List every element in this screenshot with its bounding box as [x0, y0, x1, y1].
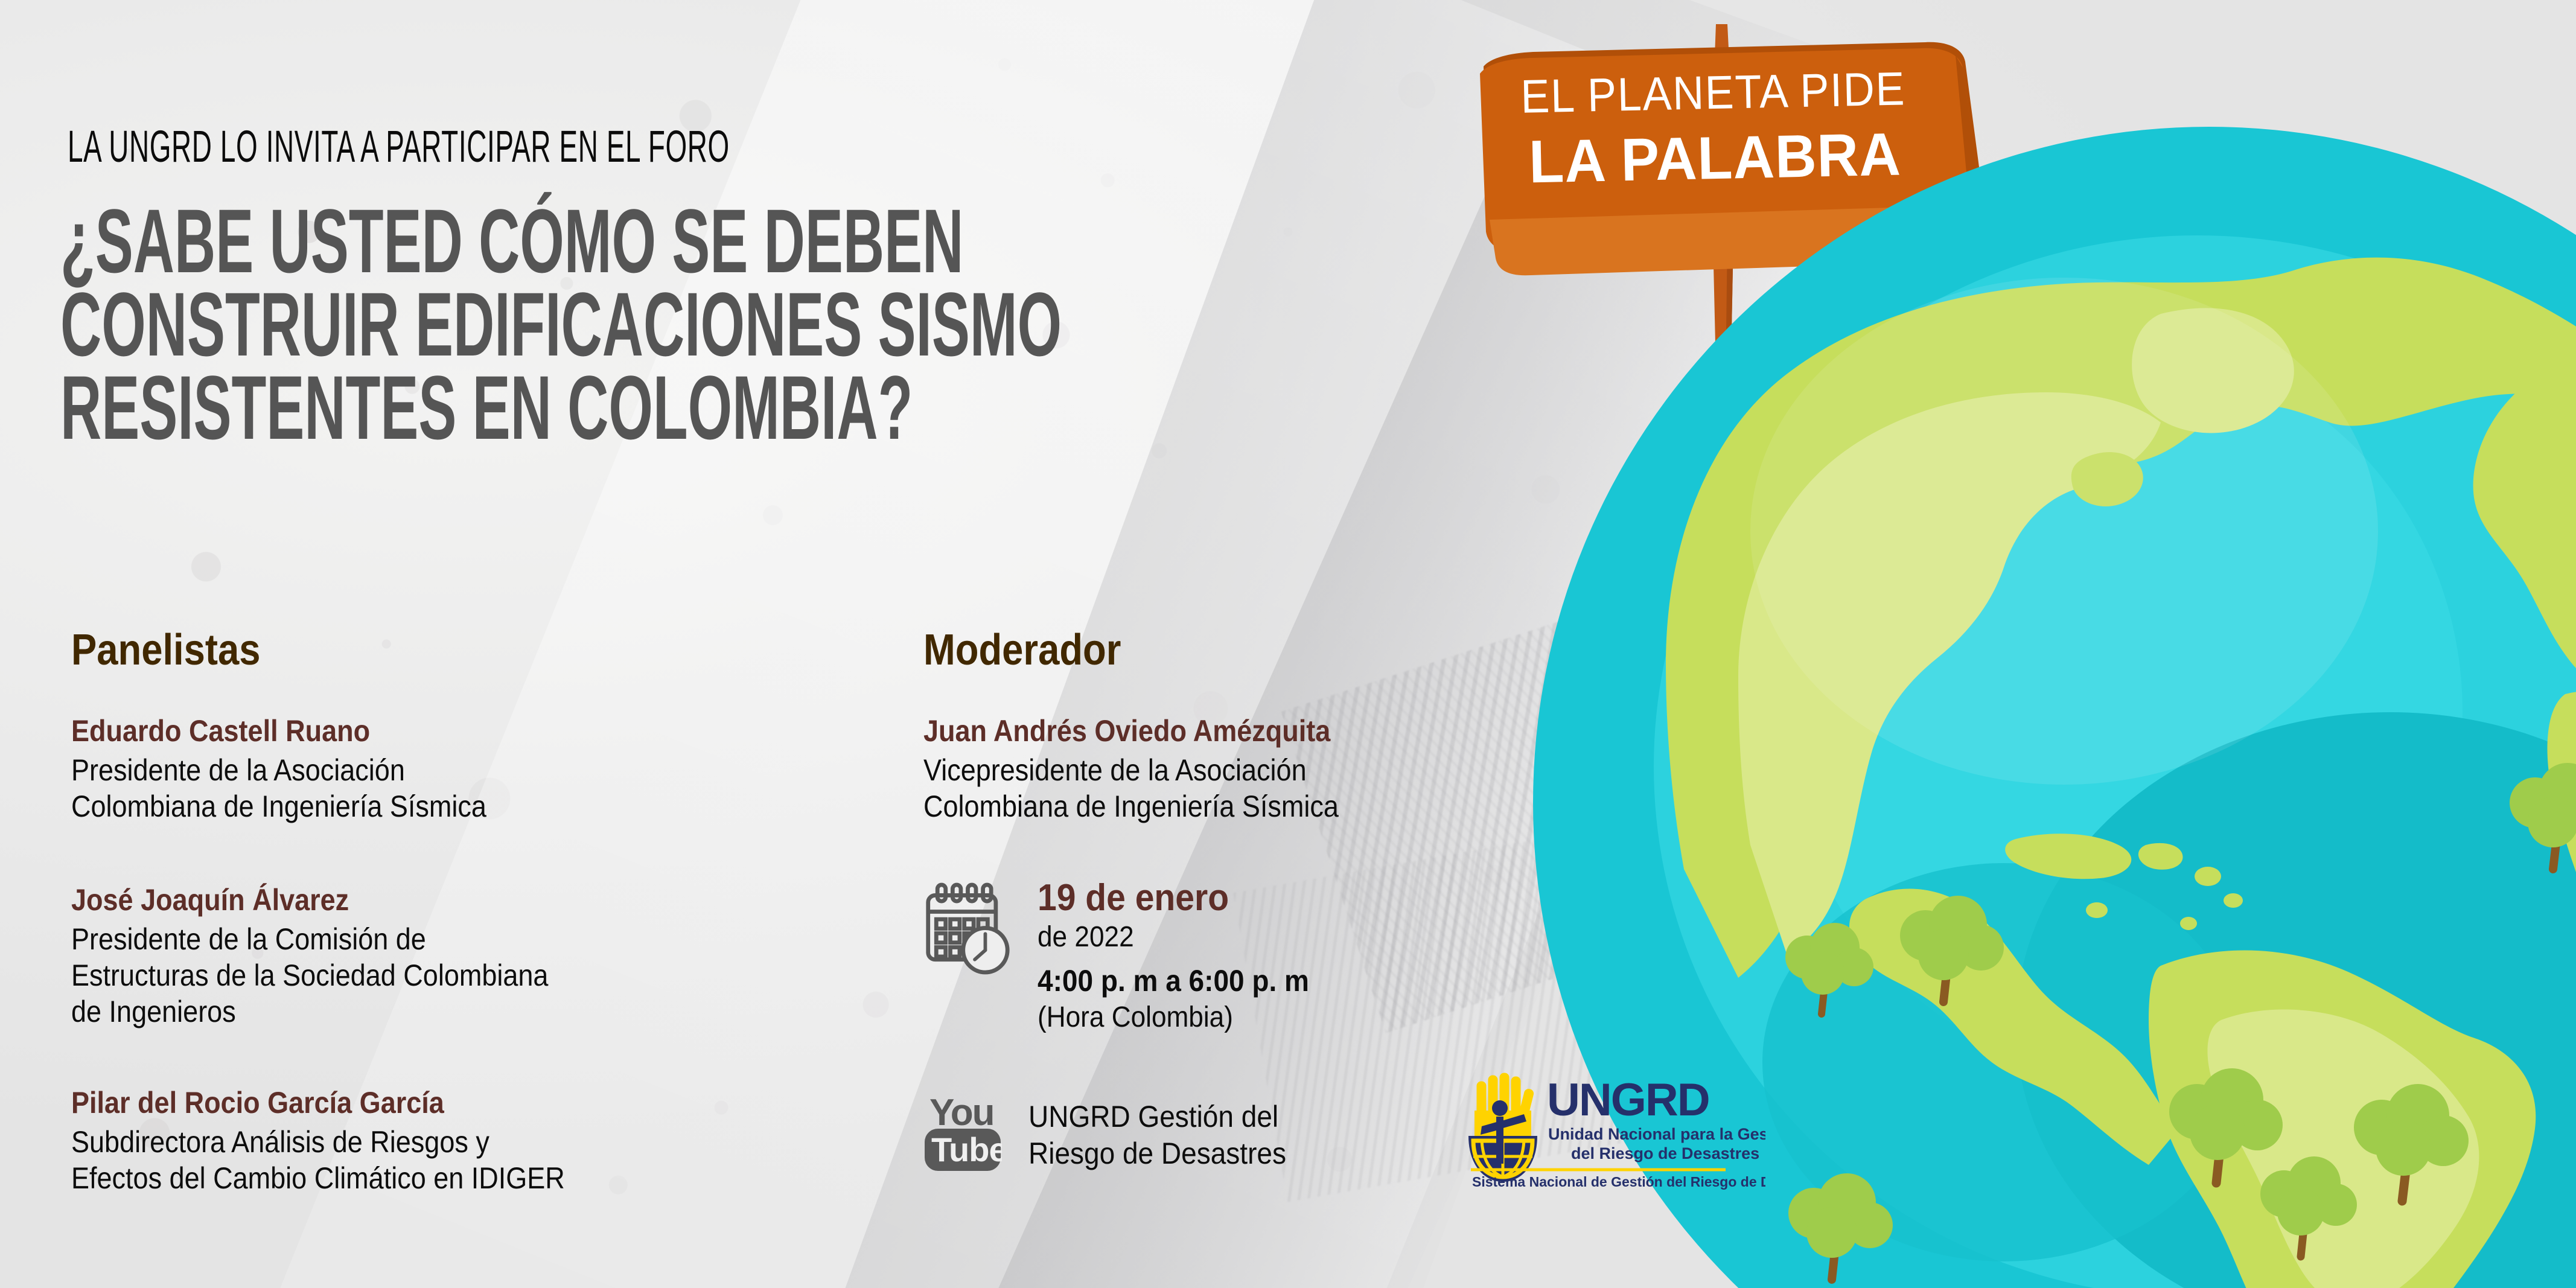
event-date: 19 de enero [1038, 876, 1309, 919]
panelist-role-line: Presidente de la Comisión de [71, 921, 548, 957]
panelist-name: Pilar del Rocio García García [71, 1085, 565, 1120]
event-timezone: (Hora Colombia) [1038, 1001, 1309, 1034]
panelist-item: Pilar del Rocio García García Subdirecto… [71, 1085, 620, 1196]
svg-text:You: You [929, 1092, 994, 1133]
page-title: ¿SABE USTED CÓMO SE DEBEN CONSTRUIR EDIF… [60, 199, 1388, 449]
logo-line-1: Unidad Nacional para la Gestión [1548, 1125, 1765, 1143]
moderator-role-line: Vicepresidente de la Asociación [923, 752, 1339, 788]
panelist-role: Presidente de la Comisión de Estructuras… [71, 921, 548, 1030]
logo-acronym: UNGRD [1547, 1074, 1709, 1126]
kicker-text: LA UNGRD LO INVITA A PARTICIPAR EN EL FO… [68, 121, 730, 172]
broadcast-channel-line: Riesgo de Desastres [1028, 1135, 1286, 1172]
sign-text-block: EL PLANETA PIDE LA PALABRA [1490, 60, 1939, 197]
event-datetime-block: 19 de enero de 2022 4:00 p. m a 6:00 p. … [923, 876, 1333, 1034]
headline-line-3: RESISTENTES EN COLOMBIA? [60, 366, 897, 449]
content-layer: LA UNGRD LO INVITA A PARTICIPAR EN EL FO… [0, 0, 2576, 1288]
event-time: 4:00 p. m a 6:00 p. m [1038, 963, 1309, 998]
moderator-item: Juan Andrés Oviedo Amézquita Vicepreside… [923, 713, 1385, 824]
logo-tagline: Sistema Nacional de Gestión del Riesgo d… [1472, 1174, 1765, 1190]
svg-text:Tube: Tube [931, 1130, 1002, 1168]
moderator-name: Juan Andrés Oviedo Amézquita [923, 713, 1339, 748]
broadcast-channel-line: UNGRD Gestión del [1028, 1098, 1286, 1135]
hand-with-person-icon [1468, 1073, 1537, 1182]
broadcast-channel-block[interactable]: You Tube UNGRD Gestión del Riesgo de Des… [923, 1090, 1309, 1173]
panelist-role-line: Efectos del Cambio Climático en IDIGER [71, 1160, 565, 1196]
headline-line-2: CONSTRUIR EDIFICACIONES SISMO [60, 282, 897, 366]
panelist-role-line: de Ingenieros [71, 993, 548, 1030]
panelist-role: Subdirectora Análisis de Riesgos y Efect… [71, 1124, 565, 1196]
panelist-role: Presidente de la Asociación Colombiana d… [71, 752, 486, 824]
logo-line-2: del Riesgo de Desastres [1571, 1144, 1759, 1162]
panelist-item: José Joaquín Álvarez Presidente de la Co… [71, 882, 601, 1030]
ungrd-logo: UNGRD Unidad Nacional para la Gestión de… [1464, 1068, 1765, 1207]
moderator-role-line: Colombiana de Ingeniería Sísmica [923, 788, 1339, 824]
panelist-role-line: Presidente de la Asociación [71, 752, 486, 788]
panelist-item: Eduardo Castell Ruano Presidente de la A… [71, 713, 532, 824]
calendar-clock-icon [923, 882, 1011, 976]
panelist-role-line: Estructuras de la Sociedad Colombiana [71, 957, 548, 993]
headline-line-1: ¿SABE USTED CÓMO SE DEBEN [60, 199, 897, 282]
sign-line-1: EL PLANETA PIDE [1520, 61, 1907, 124]
moderator-role: Vicepresidente de la Asociación Colombia… [923, 752, 1339, 824]
panelist-name: José Joaquín Álvarez [71, 882, 548, 917]
youtube-icon[interactable]: You Tube [923, 1090, 1002, 1173]
event-datetime-text: 19 de enero de 2022 4:00 p. m a 6:00 p. … [1038, 876, 1333, 1034]
panelists-heading: Panelistas [71, 625, 260, 675]
moderator-heading: Moderador [923, 625, 1121, 675]
panelist-role-line: Colombiana de Ingeniería Sísmica [71, 788, 486, 824]
panelist-name: Eduardo Castell Ruano [71, 713, 486, 748]
panelist-role-line: Subdirectora Análisis de Riesgos y [71, 1124, 565, 1160]
event-year: de 2022 [1038, 920, 1309, 954]
broadcast-channel-name: UNGRD Gestión del Riesgo de Desastres [1028, 1098, 1286, 1172]
sign-line-2: LA PALABRA [1528, 120, 1902, 197]
